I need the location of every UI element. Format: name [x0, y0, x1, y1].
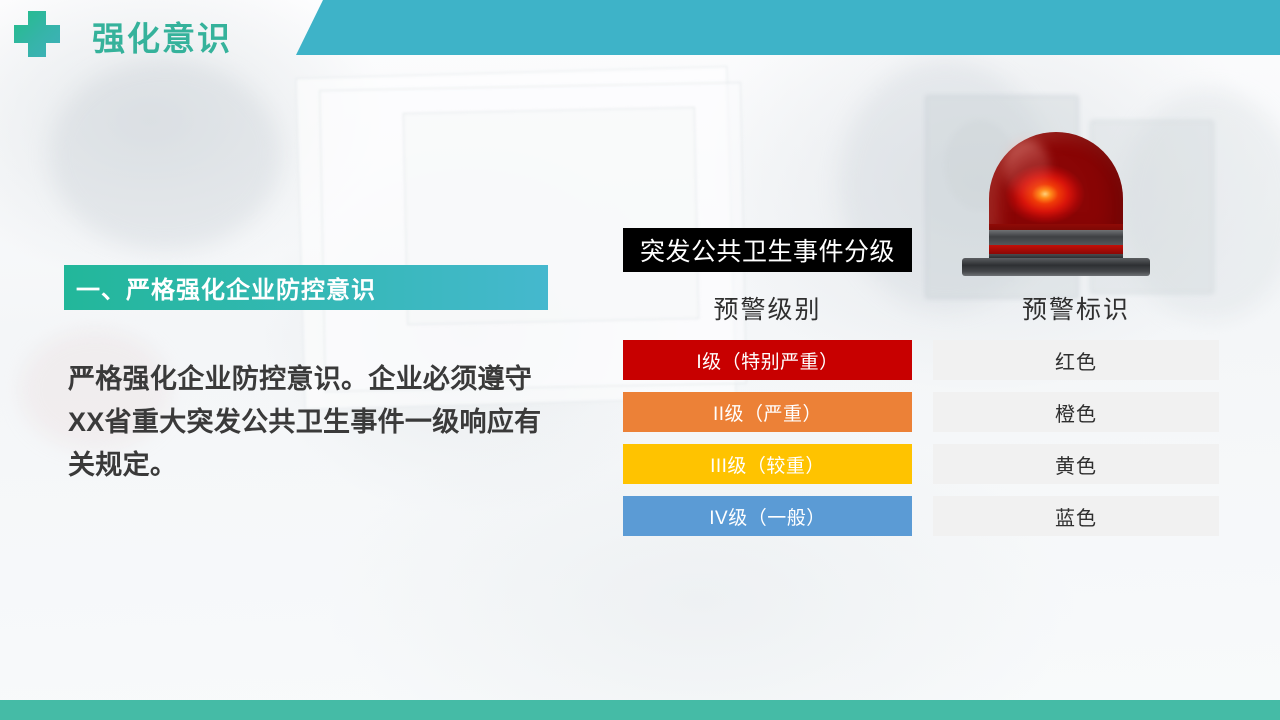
- header-teal-band: [296, 0, 1280, 55]
- slide-canvas: 强化意识 一、严格强化企业防控意识 严格强化企业防控意识。企业必须遵守XX省重大…: [0, 0, 1280, 720]
- section-heading-banner: 一、严格强化企业防控意识: [64, 265, 548, 310]
- table-title-bar: 突发公共卫生事件分级: [623, 228, 912, 272]
- medical-cross-icon: [14, 11, 60, 57]
- table-row: IV级（一般）: [623, 496, 912, 536]
- table-row: 蓝色: [933, 496, 1219, 536]
- footer-bar: [0, 700, 1280, 720]
- column-header-level: 预警级别: [623, 292, 912, 324]
- table-row: 红色: [933, 340, 1219, 380]
- table-row: 橙色: [933, 392, 1219, 432]
- column-header-mark: 预警标识: [933, 292, 1219, 324]
- section-heading-label: 一、严格强化企业防控意识: [64, 270, 376, 305]
- table-row: II级（严重）: [623, 392, 912, 432]
- table-row: III级（较重）: [623, 444, 912, 484]
- table-row: 黄色: [933, 444, 1219, 484]
- siren-metal-ring: [989, 230, 1123, 245]
- table-title-label: 突发公共卫生事件分级: [640, 232, 895, 268]
- body-paragraph: 严格强化企业防控意识。企业必须遵守XX省重大突发公共卫生事件一级响应有关规定。: [68, 358, 546, 487]
- siren-dome-highlight: [1004, 140, 1050, 196]
- background-blur-shape: [50, 60, 280, 250]
- page-title: 强化意识: [92, 12, 232, 60]
- siren-base: [962, 258, 1150, 276]
- red-alarm-siren-icon: [958, 132, 1154, 272]
- siren-red-ring: [989, 245, 1123, 254]
- table-row: I级（特别严重）: [623, 340, 912, 380]
- cross-vertical-arm: [28, 11, 46, 57]
